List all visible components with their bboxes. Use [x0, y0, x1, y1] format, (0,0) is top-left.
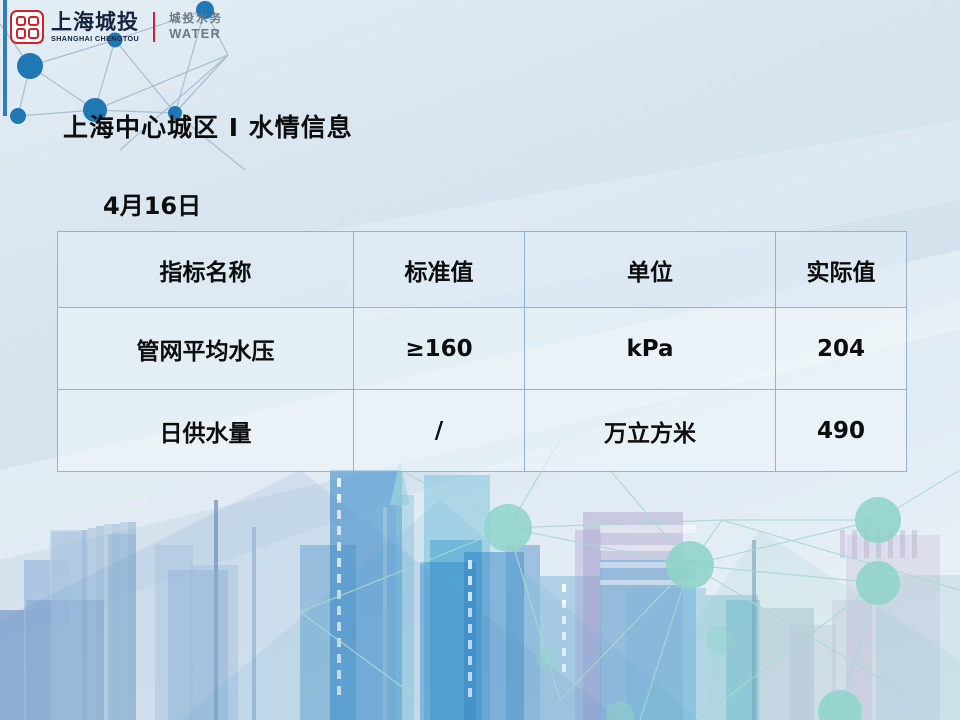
- cell-indicator-name: 日供水量: [58, 390, 354, 472]
- cell-standard-value: ≥160: [354, 308, 525, 390]
- table-row: 日供水量 / 万立方米 490: [58, 390, 907, 472]
- column-header-actual: 实际值: [776, 232, 907, 308]
- slide-canvas: 上海城投 SHANGHAI CHENGTOU 城投水务 WATER 上海中心城区…: [0, 0, 960, 720]
- table-row: 管网平均水压 ≥160 kPa 204: [58, 308, 907, 390]
- cell-standard-value: /: [354, 390, 525, 472]
- brand-sub-en: WATER: [169, 27, 223, 42]
- cell-indicator-name: 管网平均水压: [58, 308, 354, 390]
- cell-unit: kPa: [525, 308, 776, 390]
- water-info-table: 指标名称 标准值 单位 实际值 管网平均水压 ≥160 kPa 204 日供水量…: [57, 231, 907, 472]
- page-title: 上海中心城区 Ⅰ 水情信息: [63, 108, 353, 144]
- brand-name-en: SHANGHAI CHENGTOU: [51, 35, 139, 42]
- brand-sub-cn: 城投水务: [169, 12, 223, 25]
- brand-name-cn: 上海城投: [51, 12, 139, 33]
- chengtou-grid-logo-icon: [10, 10, 44, 44]
- cell-actual-value: 490: [776, 390, 907, 472]
- left-accent-strip: [3, 0, 7, 116]
- report-date: 4月16日: [103, 186, 201, 221]
- column-header-standard: 标准值: [354, 232, 525, 308]
- column-header-indicator: 指标名称: [58, 232, 354, 308]
- logo-divider: [153, 12, 155, 42]
- cell-actual-value: 204: [776, 308, 907, 390]
- column-header-unit: 单位: [525, 232, 776, 308]
- brand-logo: 上海城投 SHANGHAI CHENGTOU 城投水务 WATER: [10, 10, 223, 44]
- cell-unit: 万立方米: [525, 390, 776, 472]
- table-header-row: 指标名称 标准值 单位 实际值: [58, 232, 907, 308]
